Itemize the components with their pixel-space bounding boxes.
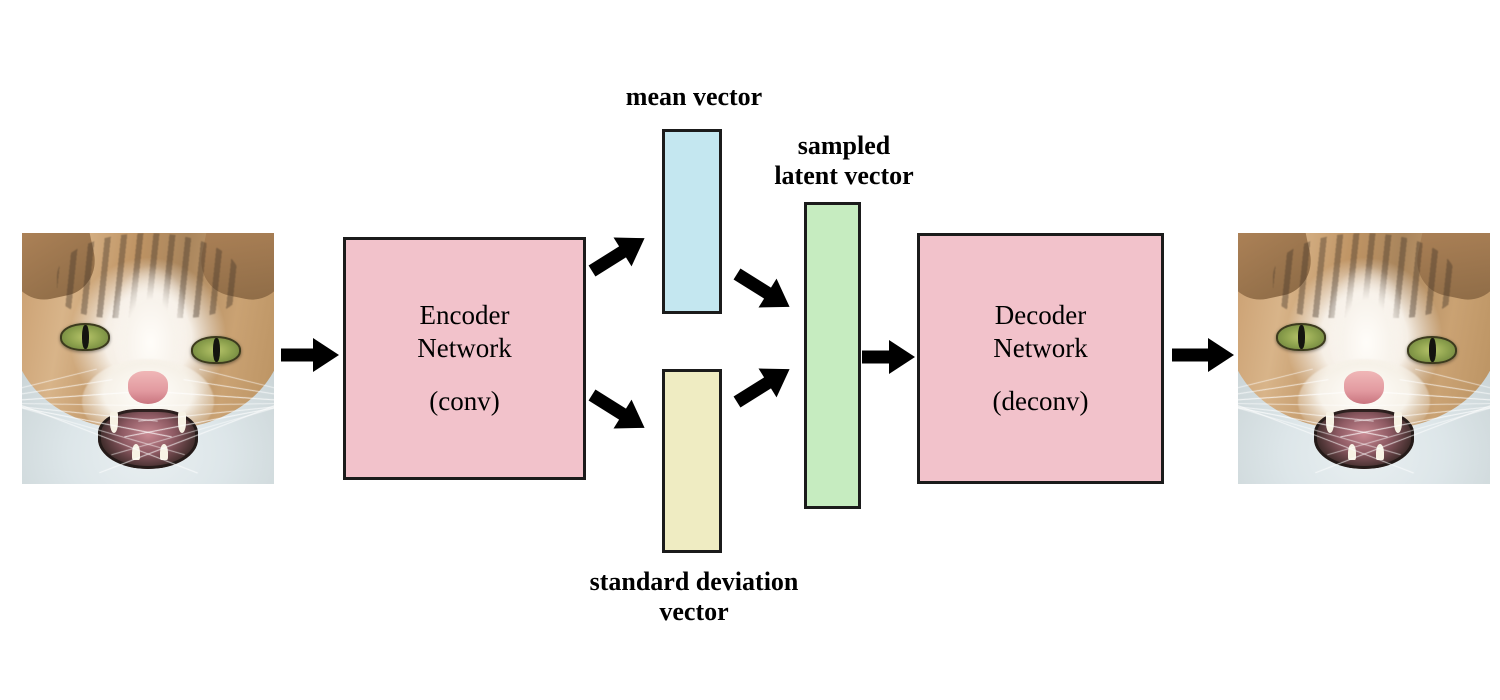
cat-pupil-right — [213, 338, 220, 362]
latent-to-decoder-arrow — [862, 340, 915, 374]
cat-pupil-left — [1298, 325, 1305, 349]
cat-photo-scene — [1238, 233, 1490, 484]
cat-photo-scene — [22, 233, 274, 484]
encoder-subtitle: (conv) — [429, 385, 499, 418]
cat-pupil-left — [82, 325, 89, 349]
cat-nose — [128, 371, 168, 404]
decoder-to-output-arrow — [1172, 338, 1234, 372]
encoder-to-stddev-vector-arrow — [592, 378, 654, 412]
standard-deviation-vector-bar — [662, 369, 722, 553]
encoder-network-block: Encoder Network (conv) — [343, 237, 586, 480]
encoder-title-line-1: Encoder — [420, 299, 510, 332]
mean-vector-bar — [662, 129, 722, 314]
cat-pupil-right — [1429, 338, 1436, 362]
decoder-title-line-2: Network — [993, 332, 1087, 365]
output-image — [1238, 233, 1490, 484]
vae-architecture-diagram: Encoder Network (conv) Decoder Network (… — [0, 0, 1500, 700]
cat-eye-left — [60, 323, 110, 351]
input-to-encoder-arrow — [281, 338, 339, 372]
mean-vector-to-latent-arrow — [737, 257, 799, 291]
cat-nose — [1344, 371, 1384, 404]
standard-deviation-vector-label: standard deviation vector — [538, 567, 850, 627]
cat-eye-right — [1407, 336, 1457, 364]
sampled-latent-vector-label: sampled latent vector — [739, 131, 949, 191]
stddev-vector-to-latent-arrow — [737, 385, 799, 419]
decoder-subtitle: (deconv) — [993, 385, 1089, 418]
encoder-to-mean-vector-arrow — [592, 254, 654, 288]
input-image — [22, 233, 274, 484]
sampled-latent-vector-bar — [804, 202, 861, 509]
cat-eye-right — [191, 336, 241, 364]
cat-eye-left — [1276, 323, 1326, 351]
decoder-title-line-1: Decoder — [995, 299, 1086, 332]
mean-vector-label: mean vector — [594, 82, 794, 112]
encoder-title-line-2: Network — [417, 332, 511, 365]
decoder-network-block: Decoder Network (deconv) — [917, 233, 1164, 484]
